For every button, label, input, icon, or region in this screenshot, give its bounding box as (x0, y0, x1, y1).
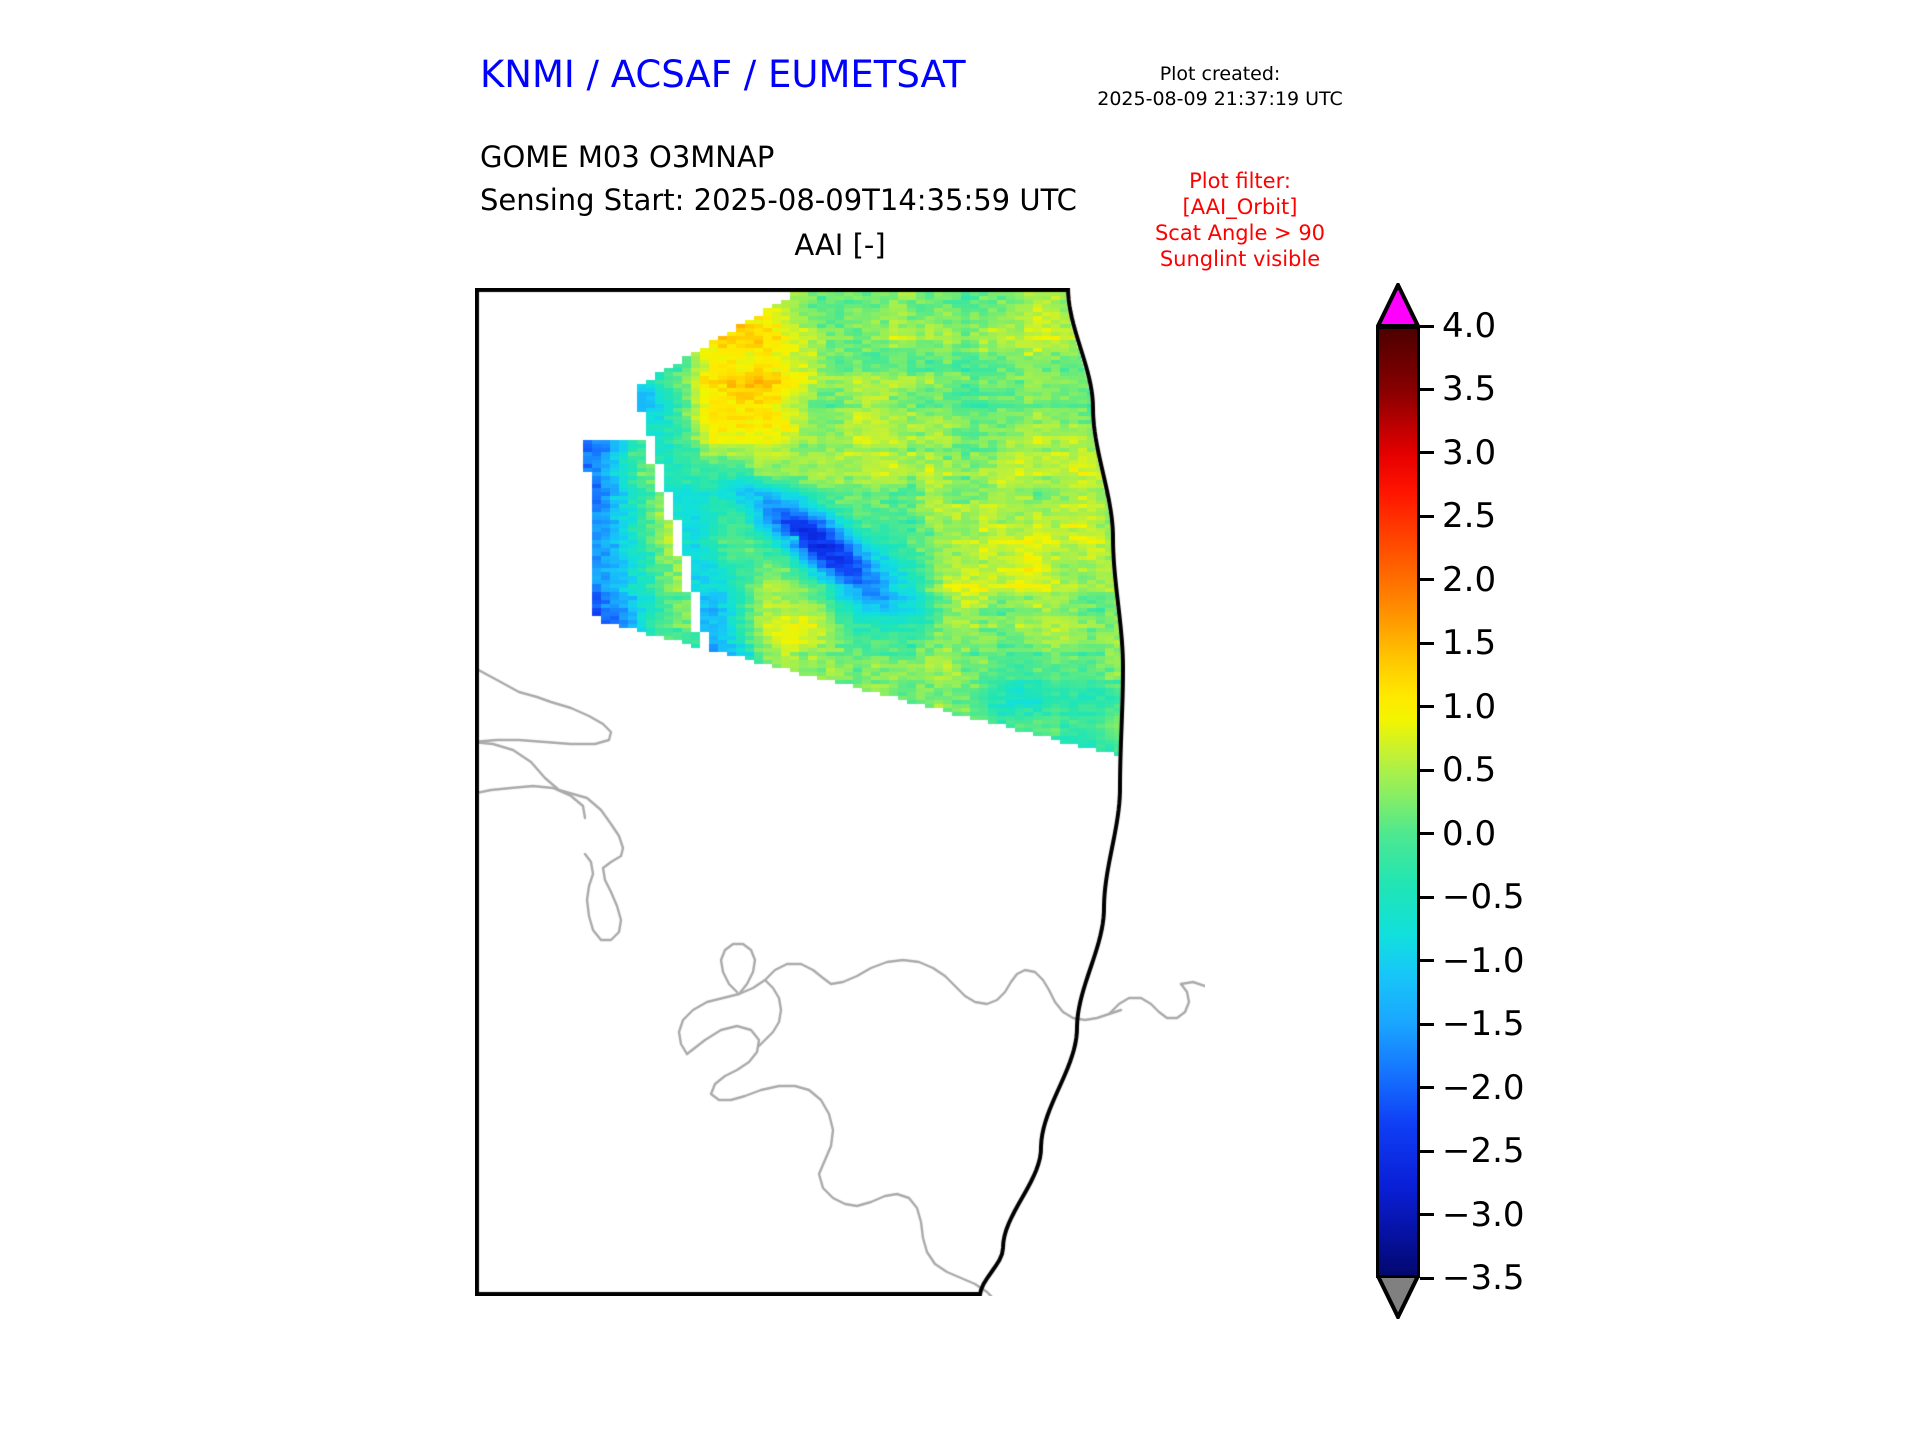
colorbar-tick-label-9: −0.5 (1442, 877, 1525, 917)
colorbar: 4.03.53.02.52.01.51.00.50.0−0.5−1.0−1.5−… (1370, 286, 1600, 1306)
product-line: GOME M03 O3MNAP (480, 140, 774, 174)
axes-title: AAI [-] (475, 228, 1205, 262)
colorbar-tick-13 (1420, 1150, 1434, 1153)
colorbar-tick-label-14: −3.0 (1442, 1195, 1525, 1235)
colorbar-tick-9 (1420, 896, 1434, 899)
colorbar-tick-label-5: 1.5 (1442, 623, 1496, 663)
colorbar-tick-12 (1420, 1086, 1434, 1089)
colorbar-tick-8 (1420, 832, 1434, 835)
colorbar-tick-label-3: 2.5 (1442, 496, 1496, 536)
plot-filter-block: Plot filter: [AAI_Orbit] Scat Angle > 90… (1110, 168, 1370, 272)
colorbar-tick-label-0: 4.0 (1442, 306, 1496, 346)
aai-swath-map (475, 288, 1205, 1296)
plot-filter-orbit: [AAI_Orbit] (1110, 194, 1370, 220)
colorbar-tick-14 (1420, 1213, 1434, 1216)
plot-filter-sunglint: Sunglint visible (1110, 246, 1370, 272)
colorbar-gradient (1376, 326, 1420, 1278)
colorbar-tick-1 (1420, 388, 1434, 391)
colorbar-tick-label-2: 3.0 (1442, 433, 1496, 473)
colorbar-tick-label-8: 0.0 (1442, 814, 1496, 854)
colorbar-tick-3 (1420, 515, 1434, 518)
plot-filter-scatangle: Scat Angle > 90 (1110, 220, 1370, 246)
map-axes (475, 288, 1205, 1296)
plot-created-label: Plot created: (1075, 62, 1365, 87)
colorbar-axis-spine (1417, 326, 1420, 1278)
colorbar-tick-label-7: 0.5 (1442, 750, 1496, 790)
colorbar-tick-label-1: 3.5 (1442, 369, 1496, 409)
colorbar-tick-label-11: −1.5 (1442, 1004, 1525, 1044)
colorbar-under-outline (1376, 1275, 1420, 1319)
colorbar-tick-0 (1420, 325, 1434, 328)
colorbar-tick-7 (1420, 769, 1434, 772)
colorbar-tick-15 (1420, 1277, 1434, 1280)
colorbar-tick-4 (1420, 578, 1434, 581)
colorbar-tick-11 (1420, 1023, 1434, 1026)
colorbar-tick-10 (1420, 959, 1434, 962)
colorbar-tick-label-10: −1.0 (1442, 941, 1525, 981)
colorbar-tick-label-13: −2.5 (1442, 1131, 1525, 1171)
colorbar-tick-2 (1420, 451, 1434, 454)
colorbar-over-outline (1376, 283, 1420, 327)
colorbar-tick-5 (1420, 642, 1434, 645)
colorbar-tick-label-6: 1.0 (1442, 687, 1496, 727)
colorbar-tick-label-12: −2.0 (1442, 1068, 1525, 1108)
colorbar-tick-label-15: −3.5 (1442, 1258, 1525, 1298)
plot-filter-label: Plot filter: (1110, 168, 1370, 194)
colorbar-tick-6 (1420, 705, 1434, 708)
plot-created-time: 2025-08-09 21:37:19 UTC (1075, 87, 1365, 112)
brand-title: KNMI / ACSAF / EUMETSAT (480, 53, 966, 96)
plot-created-block: Plot created: 2025-08-09 21:37:19 UTC (1075, 62, 1365, 112)
colorbar-tick-label-4: 2.0 (1442, 560, 1496, 600)
sensing-start-line: Sensing Start: 2025-08-09T14:35:59 UTC (480, 183, 1077, 217)
